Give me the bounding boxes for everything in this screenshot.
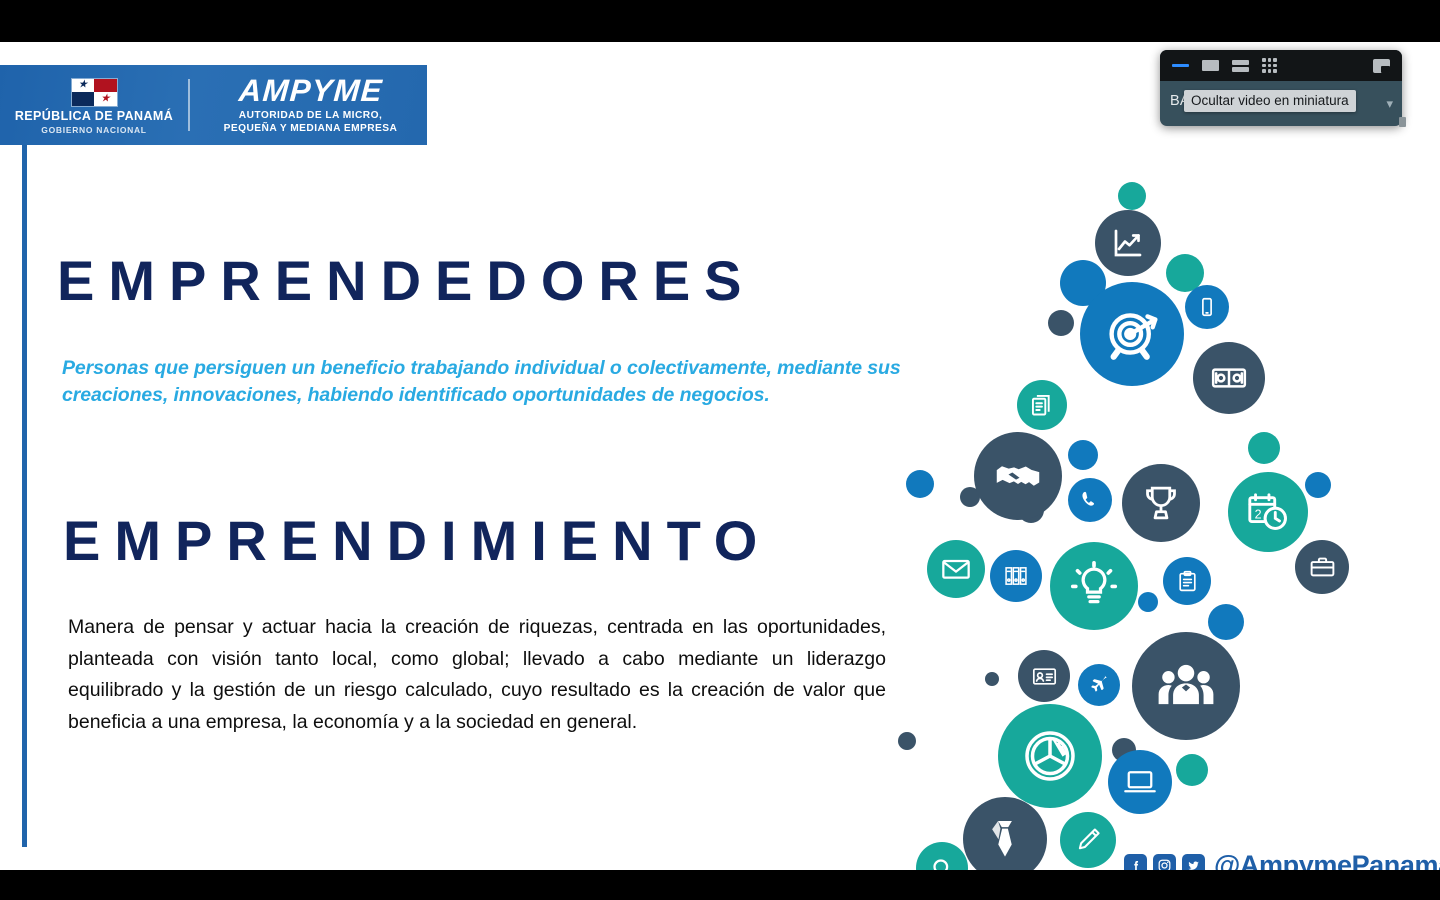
dot-blue-6	[1208, 604, 1244, 640]
target-icon	[1080, 282, 1184, 386]
magnifier-icon	[916, 842, 968, 870]
panel-resize-handle[interactable]	[1399, 117, 1406, 127]
dot-blue-5	[1138, 592, 1158, 612]
dot-teal-3	[1248, 432, 1280, 464]
republic-line: REPÚBLICA DE PANAMÁ	[15, 109, 173, 123]
presentation-slide: ★ ★ REPÚBLICA DE PANAMÁ GOBIERNO NACIONA…	[0, 42, 1440, 870]
body-emprendimiento: Manera de pensar y actuar hacia la creac…	[68, 612, 886, 738]
airplane-icon	[1078, 664, 1120, 706]
brand-subtitle-line1: AUTORIDAD DE LA MICRO,	[239, 110, 382, 123]
laptop-icon	[1108, 750, 1172, 814]
dot-teal-4	[1176, 754, 1208, 786]
dot-slate-5	[898, 732, 916, 750]
calendar-clock-icon: 2	[1228, 472, 1308, 552]
panama-flag-icon: ★ ★	[71, 78, 118, 107]
twitter-icon[interactable]	[1182, 854, 1205, 870]
brand-subtitle-line2: PEQUEÑA Y MEDIANA EMPRESA	[224, 123, 398, 136]
hide-thumbnail-tooltip: Ocultar video en miniatura	[1184, 90, 1356, 112]
screen: ★ ★ REPÚBLICA DE PANAMÁ GOBIERNO NACIONA…	[0, 0, 1440, 900]
heading-emprendedores: EMPRENDEDORES	[57, 248, 756, 313]
business-icons-collage: 2	[890, 142, 1430, 822]
necktie-icon	[963, 797, 1047, 870]
instagram-icon[interactable]	[1153, 854, 1176, 870]
documents-icon	[1017, 380, 1067, 430]
picture-in-picture-icon[interactable]	[1373, 59, 1390, 73]
brand-name: AMPYME	[237, 75, 383, 106]
video-view-toolbar	[1160, 50, 1402, 81]
heading-emprendimiento: EMPRENDIMIENTO	[63, 508, 771, 573]
facebook-icon[interactable]	[1124, 854, 1147, 870]
chevron-icon[interactable]: ▾	[1386, 96, 1393, 112]
smartphone-icon	[1185, 285, 1229, 329]
money-icon	[1193, 342, 1265, 414]
growth-chart-icon	[1095, 210, 1161, 276]
video-participant-area[interactable]: BAR ▾ Ocultar video en miniatura	[1160, 81, 1402, 126]
gallery-view-icon[interactable]	[1262, 58, 1277, 73]
pie-chart-icon	[998, 704, 1102, 808]
dot-slate-1	[1048, 310, 1074, 336]
clipboard-icon	[1163, 557, 1211, 605]
ampyme-logo-band: ★ ★ REPÚBLICA DE PANAMÁ GOBIERNO NACIONA…	[0, 65, 427, 145]
handshake-icon	[974, 432, 1062, 520]
minimize-icon[interactable]	[1172, 64, 1189, 67]
email-icon	[927, 540, 985, 598]
trophy-icon	[1122, 464, 1200, 542]
team-icon	[1132, 632, 1240, 740]
dot-blue-4	[906, 470, 934, 498]
svg-text:2: 2	[1255, 508, 1262, 522]
id-card-icon	[1018, 650, 1070, 702]
government-line: GOBIERNO NACIONAL	[41, 125, 146, 135]
dot-slate-6	[985, 672, 999, 686]
social-footer: @AmpymePanama	[1124, 850, 1440, 870]
speaker-view-icon[interactable]	[1202, 60, 1219, 71]
left-accent-rule	[22, 132, 27, 847]
video-thumbnail-panel[interactable]: BAR ▾ Ocultar video en miniatura	[1160, 50, 1402, 126]
social-handle: @AmpymePanama	[1214, 850, 1440, 870]
strip-view-icon[interactable]	[1232, 60, 1249, 72]
dot-teal-1	[1118, 182, 1146, 210]
subtitle-emprendedores: Personas que persiguen un beneficio trab…	[62, 355, 992, 409]
phone-icon	[1068, 478, 1112, 522]
ampyme-brand: AMPYME AUTORIDAD DE LA MICRO, PEQUEÑA Y …	[190, 75, 427, 136]
dot-blue-2	[1068, 440, 1098, 470]
binders-icon	[990, 550, 1042, 602]
briefcase-icon	[1295, 540, 1349, 594]
pencil-icon	[1060, 812, 1116, 868]
dot-blue-3	[1305, 472, 1331, 498]
lightbulb-icon	[1050, 542, 1138, 630]
republic-logo: ★ ★ REPÚBLICA DE PANAMÁ GOBIERNO NACIONA…	[0, 76, 188, 135]
